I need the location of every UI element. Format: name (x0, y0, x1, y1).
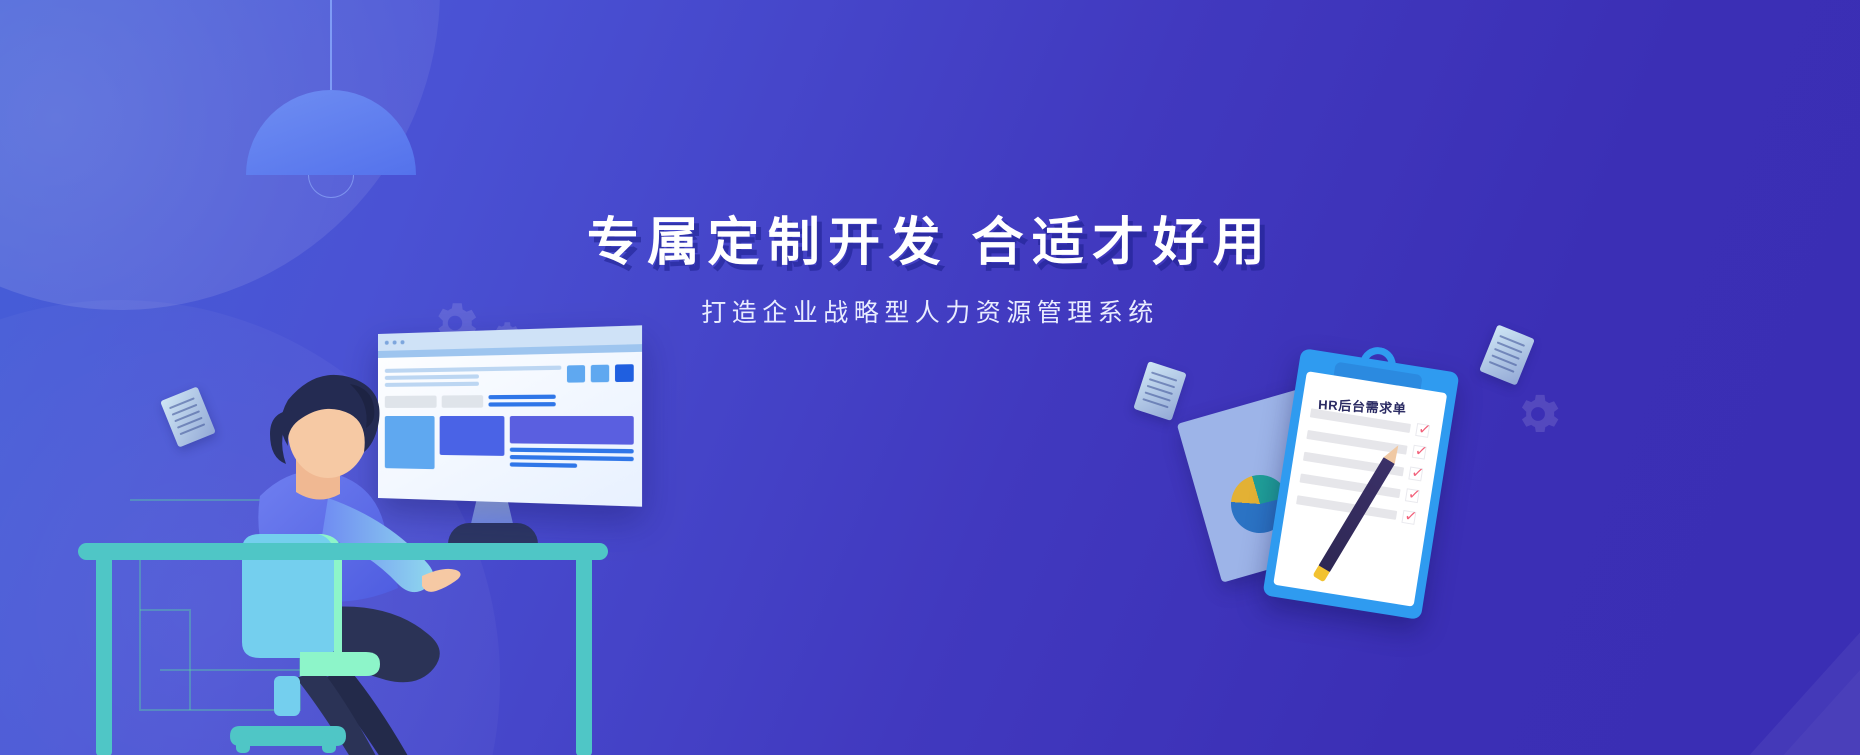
checkbox-checked-icon (1408, 467, 1423, 482)
checkbox-checked-icon (1401, 510, 1416, 525)
desk-top (78, 543, 608, 560)
clipboard-cluster: HR后台需求单 (1255, 345, 1495, 625)
window-dot-icon (393, 340, 397, 344)
gear-icon (1512, 388, 1564, 440)
checkbox-checked-icon (1412, 445, 1427, 460)
clipboard: HR后台需求单 (1262, 348, 1459, 620)
window-dot-icon (401, 340, 405, 344)
desk-leg (96, 556, 112, 755)
window-dot-icon (385, 340, 389, 344)
hero-banner: 专属定制开发 合适才好用 打造企业战略型人力资源管理系统 (0, 0, 1860, 755)
paper-icon (1133, 361, 1186, 421)
banner-subheadline: 打造企业战略型人力资源管理系统 (0, 293, 1860, 329)
lamp-bulb (308, 175, 354, 198)
lamp-shade (246, 90, 416, 175)
checkbox-checked-icon (1415, 423, 1430, 438)
clipboard-page: HR后台需求单 (1273, 371, 1447, 607)
banner-headline: 专属定制开发 合适才好用 (0, 200, 1860, 275)
office-chair (222, 530, 452, 755)
checkbox-checked-icon (1405, 488, 1420, 503)
desk-leg (576, 556, 592, 755)
lamp-cord (330, 0, 332, 90)
pendant-lamp (246, 0, 416, 198)
